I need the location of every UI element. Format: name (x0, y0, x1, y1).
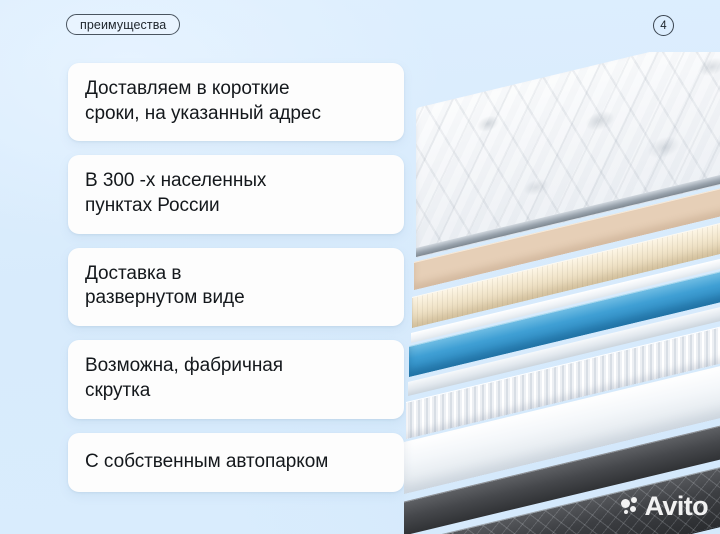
benefit-card: Возможна, фабричная скрутка (68, 340, 404, 418)
avito-wordmark: Avito (645, 493, 709, 520)
benefit-card: Доставка в развернутом виде (68, 248, 404, 326)
benefit-card: С собственным автопарком (68, 433, 404, 493)
benefit-card-text: Доставка в развернутом виде (85, 262, 387, 311)
benefit-card-text: С собственным автопарком (85, 450, 387, 475)
avito-watermark: Avito (621, 493, 709, 520)
benefit-card-text: Доставляем в короткие сроки, на указанны… (85, 77, 387, 126)
benefit-card: Доставляем в короткие сроки, на указанны… (68, 63, 404, 141)
benefit-card-text: В 300 -х населенных пунктах России (85, 169, 387, 218)
slide-canvas: преимущества 4 Доставляем в короткие сро… (0, 0, 720, 534)
benefit-card: В 300 -х населенных пунктах России (68, 155, 404, 233)
mattress-cutaway-image (404, 52, 720, 534)
benefit-card-text: Возможна, фабричная скрутка (85, 354, 387, 403)
avito-dots-icon (621, 497, 640, 516)
category-badge: преимущества (66, 14, 180, 35)
page-number-indicator: 4 (653, 15, 674, 36)
benefits-card-list: Доставляем в короткие сроки, на указанны… (68, 63, 404, 506)
